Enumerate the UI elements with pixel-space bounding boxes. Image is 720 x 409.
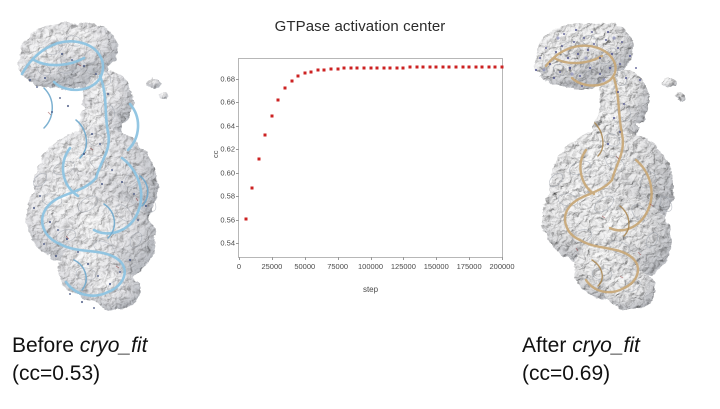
caption-after-cryofit: After cryo_fit (cc=0.69) — [522, 332, 640, 388]
x-tick-mark — [239, 257, 240, 260]
caption-after-prefix: After — [522, 334, 572, 357]
data-point — [402, 66, 405, 69]
y-tick-label: 0.66 — [220, 98, 235, 107]
y-tick-mark — [236, 149, 239, 150]
molecule-image-after-cryofit — [520, 8, 716, 320]
x-tick-label: 50000 — [294, 262, 315, 271]
data-point — [356, 67, 359, 70]
x-tick-label: 75000 — [327, 262, 348, 271]
data-point — [316, 69, 319, 72]
data-point — [415, 66, 418, 69]
y-tick-mark — [236, 173, 239, 174]
data-point — [408, 66, 411, 69]
chart-title: GTPase activation center — [205, 18, 515, 35]
data-point — [264, 134, 267, 137]
data-point — [428, 66, 431, 69]
data-point — [257, 157, 260, 160]
plot-frame: 0.540.560.580.600.620.640.660.6802500050… — [238, 58, 503, 258]
x-tick-mark — [403, 257, 404, 260]
x-tick-mark — [371, 257, 372, 260]
data-point — [284, 87, 287, 90]
plot-area: 0.540.560.580.600.620.640.660.6802500050… — [239, 59, 502, 257]
data-point — [468, 66, 471, 69]
x-tick-mark — [502, 257, 503, 260]
y-tick-label: 0.58 — [220, 192, 235, 201]
data-point — [461, 66, 464, 69]
data-point — [277, 99, 280, 102]
data-point — [270, 114, 273, 117]
data-point — [422, 66, 425, 69]
data-point — [441, 66, 444, 69]
y-tick-label: 0.56 — [220, 215, 235, 224]
data-point — [251, 187, 254, 190]
y-tick-label: 0.62 — [220, 145, 235, 154]
y-tick-mark — [236, 220, 239, 221]
data-point — [376, 66, 379, 69]
y-tick-label: 0.54 — [220, 238, 235, 247]
x-tick-mark — [469, 257, 470, 260]
data-point — [297, 75, 300, 78]
data-point — [501, 66, 504, 69]
data-point — [389, 66, 392, 69]
caption-after-emphasis: cryo_fit — [572, 334, 640, 357]
x-tick-mark — [338, 257, 339, 260]
data-point — [290, 80, 293, 83]
data-point — [435, 66, 438, 69]
y-tick-mark — [236, 79, 239, 80]
y-tick-label: 0.64 — [220, 121, 235, 130]
chart-y-axis-label: cc — [211, 151, 220, 159]
data-point — [336, 67, 339, 70]
data-point — [369, 66, 372, 69]
caption-before-cryofit: Before cryo_fit (cc=0.53) — [12, 332, 147, 388]
x-tick-label: 25000 — [261, 262, 282, 271]
data-point — [487, 66, 490, 69]
data-point — [474, 66, 477, 69]
x-tick-mark — [305, 257, 306, 260]
x-tick-label: 150000 — [424, 262, 449, 271]
data-point — [330, 68, 333, 71]
data-point — [395, 66, 398, 69]
caption-before-line2: (cc=0.53) — [12, 360, 147, 388]
caption-before-line1: Before cryo_fit — [12, 332, 147, 360]
x-tick-label: 125000 — [391, 262, 416, 271]
x-tick-label: 175000 — [457, 262, 482, 271]
y-tick-mark — [236, 102, 239, 103]
y-tick-mark — [236, 126, 239, 127]
caption-after-line1: After cryo_fit — [522, 332, 640, 360]
x-tick-mark — [272, 257, 273, 260]
data-point — [448, 66, 451, 69]
x-tick-mark — [436, 257, 437, 260]
chart-x-axis-label: step — [238, 285, 503, 294]
data-point — [362, 67, 365, 70]
x-tick-label: 100000 — [358, 262, 383, 271]
y-tick-mark — [236, 243, 239, 244]
cc-vs-step-chart: GTPase activation center cc 0.540.560.58… — [205, 10, 515, 310]
y-tick-label: 0.60 — [220, 168, 235, 177]
y-tick-mark — [236, 196, 239, 197]
data-point — [454, 66, 457, 69]
data-point — [343, 67, 346, 70]
caption-before-prefix: Before — [12, 334, 80, 357]
data-point — [481, 66, 484, 69]
data-point — [382, 66, 385, 69]
caption-after-line2: (cc=0.69) — [522, 360, 640, 388]
data-point — [349, 67, 352, 70]
x-tick-label: 200000 — [489, 262, 514, 271]
molecule-image-before-cryofit — [4, 8, 200, 320]
x-tick-label: 0 — [237, 262, 241, 271]
data-point — [244, 217, 247, 220]
caption-before-emphasis: cryo_fit — [80, 334, 148, 357]
data-point — [494, 66, 497, 69]
figure-canvas: GTPase activation center cc 0.540.560.58… — [0, 0, 720, 409]
data-point — [310, 70, 313, 73]
data-point — [323, 68, 326, 71]
data-point — [303, 72, 306, 75]
y-tick-label: 0.68 — [220, 74, 235, 83]
